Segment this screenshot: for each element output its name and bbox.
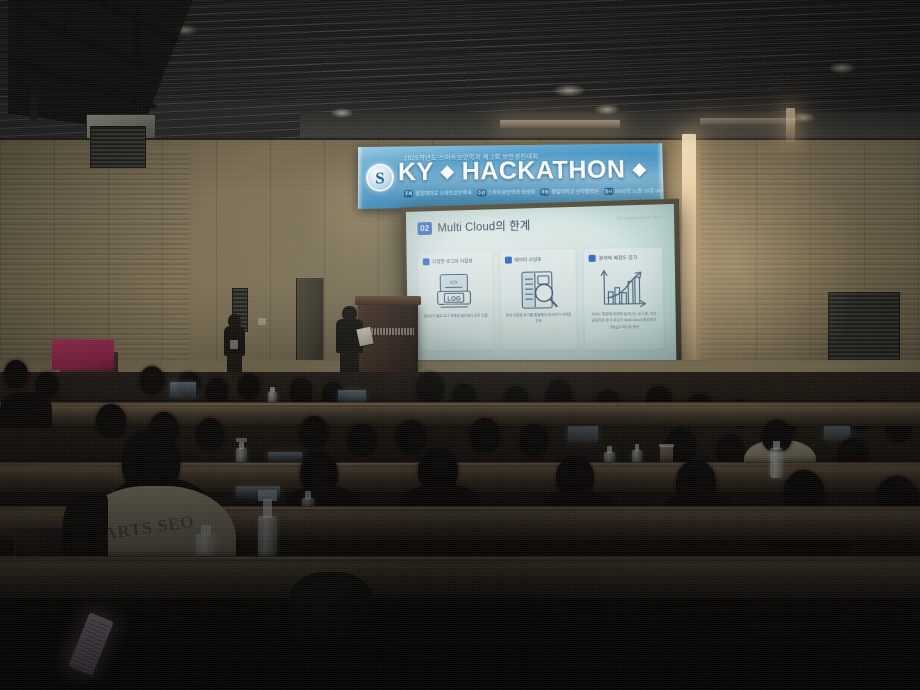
card-body-text: 서비스 확장에 비례해 늘어나는 로그량, 보안 담당자의 분석 부담이 Mul… [590, 311, 658, 331]
head [300, 416, 328, 448]
banner-title-left: KY [398, 158, 433, 186]
banner-highlight-left [358, 147, 363, 209]
banner-chip: 후원 [540, 189, 549, 196]
banner-chip: 주관 [477, 189, 486, 196]
diamond-icon-left: ◆ [441, 162, 455, 181]
svg-text:</>: </> [450, 280, 459, 286]
bottle-cap [258, 490, 277, 501]
head [4, 360, 28, 388]
card-label: 데이터 사일로 [514, 256, 541, 263]
banner-footer: 주최 경일대학교 스마트보안학과 주관 스마트보안학과 학생회 후원 경일대학교… [404, 187, 654, 197]
card-body-text: 클라우드별로 로그 포맷과 필드명이 모두 다름 [424, 313, 488, 320]
diamond-icon-right: ◆ [633, 159, 647, 178]
downlight-6 [330, 108, 354, 118]
banner-title-right: HACKATHON [462, 156, 626, 186]
head [196, 418, 224, 450]
bottle-cap [236, 438, 247, 442]
downlight-3 [594, 104, 620, 115]
laptop [568, 424, 598, 442]
head [470, 418, 500, 452]
hanging-cable-2 [100, 0, 136, 110]
banner-footer-item: 일시 2025년 11월 19일 09:00 ~ 17:00 [604, 187, 664, 195]
cup-lid [659, 444, 674, 447]
downlight-4 [828, 62, 856, 74]
head [140, 366, 164, 394]
banner-chip-text: 경일대학교 산학협력단 [551, 188, 599, 196]
slide-title: Multi Cloud의 한계 [437, 217, 530, 235]
piano-lid [355, 296, 421, 305]
head [290, 378, 312, 404]
log-document-icon: </> LOG [423, 270, 488, 314]
event-banner: S 2025학년도 스마트보안학과 제 2회 보안경진대회 KY ◆ HACKA… [358, 143, 664, 209]
slide-section-number: 02 [417, 221, 431, 234]
laptop [824, 424, 850, 440]
slide-cards: 다양한 로그의 이질성 </> LOG [418, 247, 664, 350]
bench-edge [0, 557, 920, 559]
card-label: 분석의 복잡도 증가 [599, 254, 637, 261]
auditorium-photo: S 2025학년도 스마트보안학과 제 2회 보안경진대회 KY ◆ HACKA… [0, 0, 920, 690]
bench-shadow-front [0, 598, 920, 690]
warm-light-strip-5 [700, 118, 796, 125]
document-magnifier-icon [505, 268, 572, 313]
head [238, 374, 260, 399]
card-badge-icon [423, 258, 430, 265]
banner-title: KY ◆ HACKATHON ◆ [398, 157, 648, 185]
pink-poster-board [52, 340, 114, 370]
growth-bar-chart-icon [589, 267, 658, 313]
svg-text:LOG: LOG [448, 296, 462, 303]
projection-screen-frame: 02 Multi Cloud의 한계 KY HACKATHON 2025 다양한… [401, 199, 682, 375]
bench-edge [0, 403, 920, 405]
backpack [288, 572, 374, 646]
bench-desk [0, 556, 920, 600]
banner-footer-item: 주관 스마트보안학과 학생회 [477, 189, 536, 197]
banner-chip: 주최 [404, 190, 413, 197]
card-header: 다양한 로그의 이질성 [423, 257, 487, 265]
slide-card: 분석의 복잡도 증가 [584, 247, 664, 350]
card-header: 분석의 복잡도 증가 [589, 253, 657, 262]
assistant-lanyard-badge [230, 340, 238, 349]
ac-grille-left [90, 126, 146, 168]
head [96, 404, 126, 438]
card-label: 다양한 로그의 이질성 [432, 258, 472, 265]
projected-slide: 02 Multi Cloud의 한계 KY HACKATHON 2025 다양한… [406, 204, 677, 370]
projector-mount-arm [30, 90, 38, 120]
head [348, 424, 376, 456]
hanging-cable-1 [60, 2, 100, 122]
emblem-letter: S [375, 169, 384, 186]
water-bottle [770, 448, 783, 478]
card-badge-icon [505, 257, 512, 264]
university-emblem-icon: S [366, 163, 394, 191]
banner-chip-text: 경일대학교 스마트보안학과 [415, 189, 472, 197]
slide-content: 02 Multi Cloud의 한계 KY HACKATHON 2025 다양한… [406, 204, 677, 370]
card-body-text: 분산 저장된 로그를 통합해서 분석하기 어려운 구조 [505, 312, 571, 326]
slide-card: 데이터 사일로 [500, 249, 578, 350]
warm-light-strip-4 [500, 120, 620, 128]
support-rod [136, 8, 139, 114]
laptop [170, 382, 196, 398]
head [520, 424, 548, 456]
head [122, 430, 180, 494]
presenter [332, 306, 366, 382]
warm-light-strip-3 [786, 108, 795, 142]
wall-switch-plate [258, 318, 266, 325]
head [416, 372, 444, 404]
card-badge-icon [589, 255, 596, 262]
banner-footer-item: 주최 경일대학교 스마트보안학과 [404, 189, 472, 197]
banner-chip-text: 2025년 11월 19일 09:00 ~ 17:00 [615, 187, 664, 195]
shoulders [0, 392, 52, 428]
head [396, 420, 426, 454]
banner-chip: 일시 [604, 188, 613, 195]
laptop [268, 452, 302, 462]
banner-footer-item: 후원 경일대학교 산학협력단 [540, 188, 599, 196]
banner-chip-text: 스마트보안학과 학생회 [488, 189, 536, 197]
head [206, 378, 228, 404]
downlight-2 [552, 84, 586, 97]
slide-card: 다양한 로그의 이질성 </> LOG [418, 251, 493, 351]
card-header: 데이터 사일로 [505, 255, 571, 263]
assistant [222, 314, 248, 378]
